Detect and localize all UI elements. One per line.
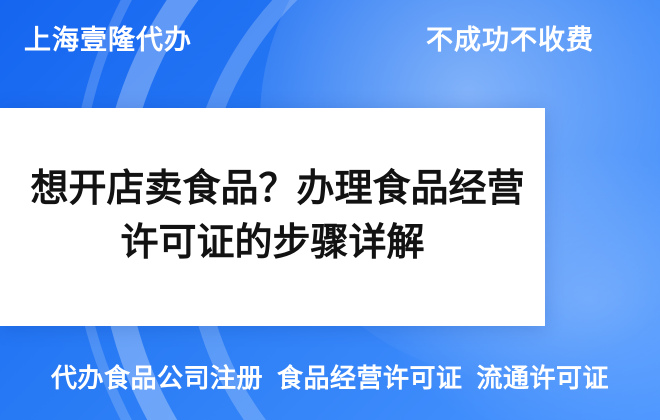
slogan-text: 不成功不收费 (380, 18, 640, 57)
headline-card-content: 想开店卖食品？办理食品经营 许可证的步骤详解 (0, 108, 545, 326)
keyword-item: 代办食品公司注册 (51, 358, 263, 395)
keyword-item: 流通许可证 (477, 358, 610, 395)
brand-name: 上海壹隆代办 (24, 18, 192, 57)
keyword-item: 食品经营许可证 (277, 358, 463, 395)
headline-card: 想开店卖食品？办理食品经营 许可证的步骤详解 (0, 108, 545, 326)
promo-banner: 上海壹隆代办 不成功不收费 想开店卖食品？办理食品经营 许可证的步骤详解 代办食… (0, 0, 660, 420)
keyword-strip: 代办食品公司注册 食品经营许可证 流通许可证 (0, 350, 660, 402)
headline-line-2: 许可证的步骤详解 (120, 217, 424, 271)
headline-line-1: 想开店卖食品？办理食品经营 (30, 163, 524, 217)
